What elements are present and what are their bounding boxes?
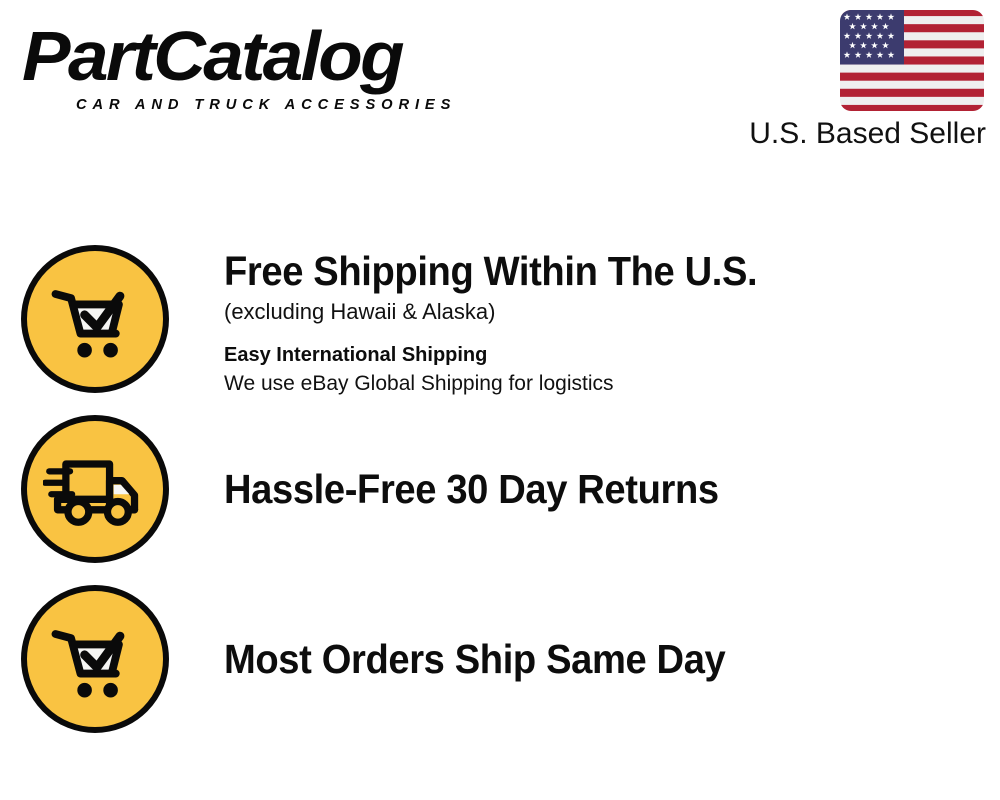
feature-icon-wrap bbox=[0, 585, 190, 733]
feature-icon-wrap bbox=[0, 245, 190, 393]
feature-icon-badge bbox=[21, 585, 169, 733]
cart-check-icon bbox=[43, 607, 147, 711]
feature-text: Most Orders Ship Same Day bbox=[190, 635, 1000, 683]
feature-text: Hassle-Free 30 Day Returns bbox=[190, 465, 1000, 513]
cart-check-icon bbox=[43, 267, 147, 371]
feature-text: Free Shipping Within The U.S. (excluding… bbox=[190, 245, 1000, 398]
feature-subtext: We use eBay Global Shipping for logistic… bbox=[224, 369, 1000, 398]
feature-row: Hassle-Free 30 Day Returns bbox=[0, 415, 1000, 563]
feature-icon-badge bbox=[21, 415, 169, 563]
feature-icon-wrap bbox=[0, 415, 190, 563]
feature-row: Free Shipping Within The U.S. (excluding… bbox=[0, 245, 1000, 398]
feature-heading: Hassle-Free 30 Day Returns bbox=[224, 465, 946, 513]
brand-tagline: CAR AND TRUCK ACCESSORIES bbox=[76, 96, 456, 113]
us-based-seller-badge: U.S. Based Seller bbox=[726, 8, 986, 151]
feature-heading: Most Orders Ship Same Day bbox=[224, 635, 946, 683]
feature-subheading: Easy International Shipping bbox=[224, 341, 1000, 369]
brand-wordmark: PartCatalog bbox=[22, 18, 402, 94]
feature-subnote: (excluding Hawaii & Alaska) bbox=[224, 297, 1000, 327]
feature-heading: Free Shipping Within The U.S. bbox=[224, 247, 946, 295]
feature-icon-badge bbox=[21, 245, 169, 393]
brand-logo[interactable]: PartCatalog CAR AND TRUCK ACCESSORIES bbox=[22, 18, 492, 118]
page-header: PartCatalog CAR AND TRUCK ACCESSORIES bbox=[0, 0, 1000, 175]
seller-badge-label: U.S. Based Seller bbox=[726, 117, 986, 151]
us-flag-icon bbox=[838, 8, 986, 113]
feature-row: Most Orders Ship Same Day bbox=[0, 585, 1000, 733]
delivery-truck-icon bbox=[43, 437, 147, 541]
